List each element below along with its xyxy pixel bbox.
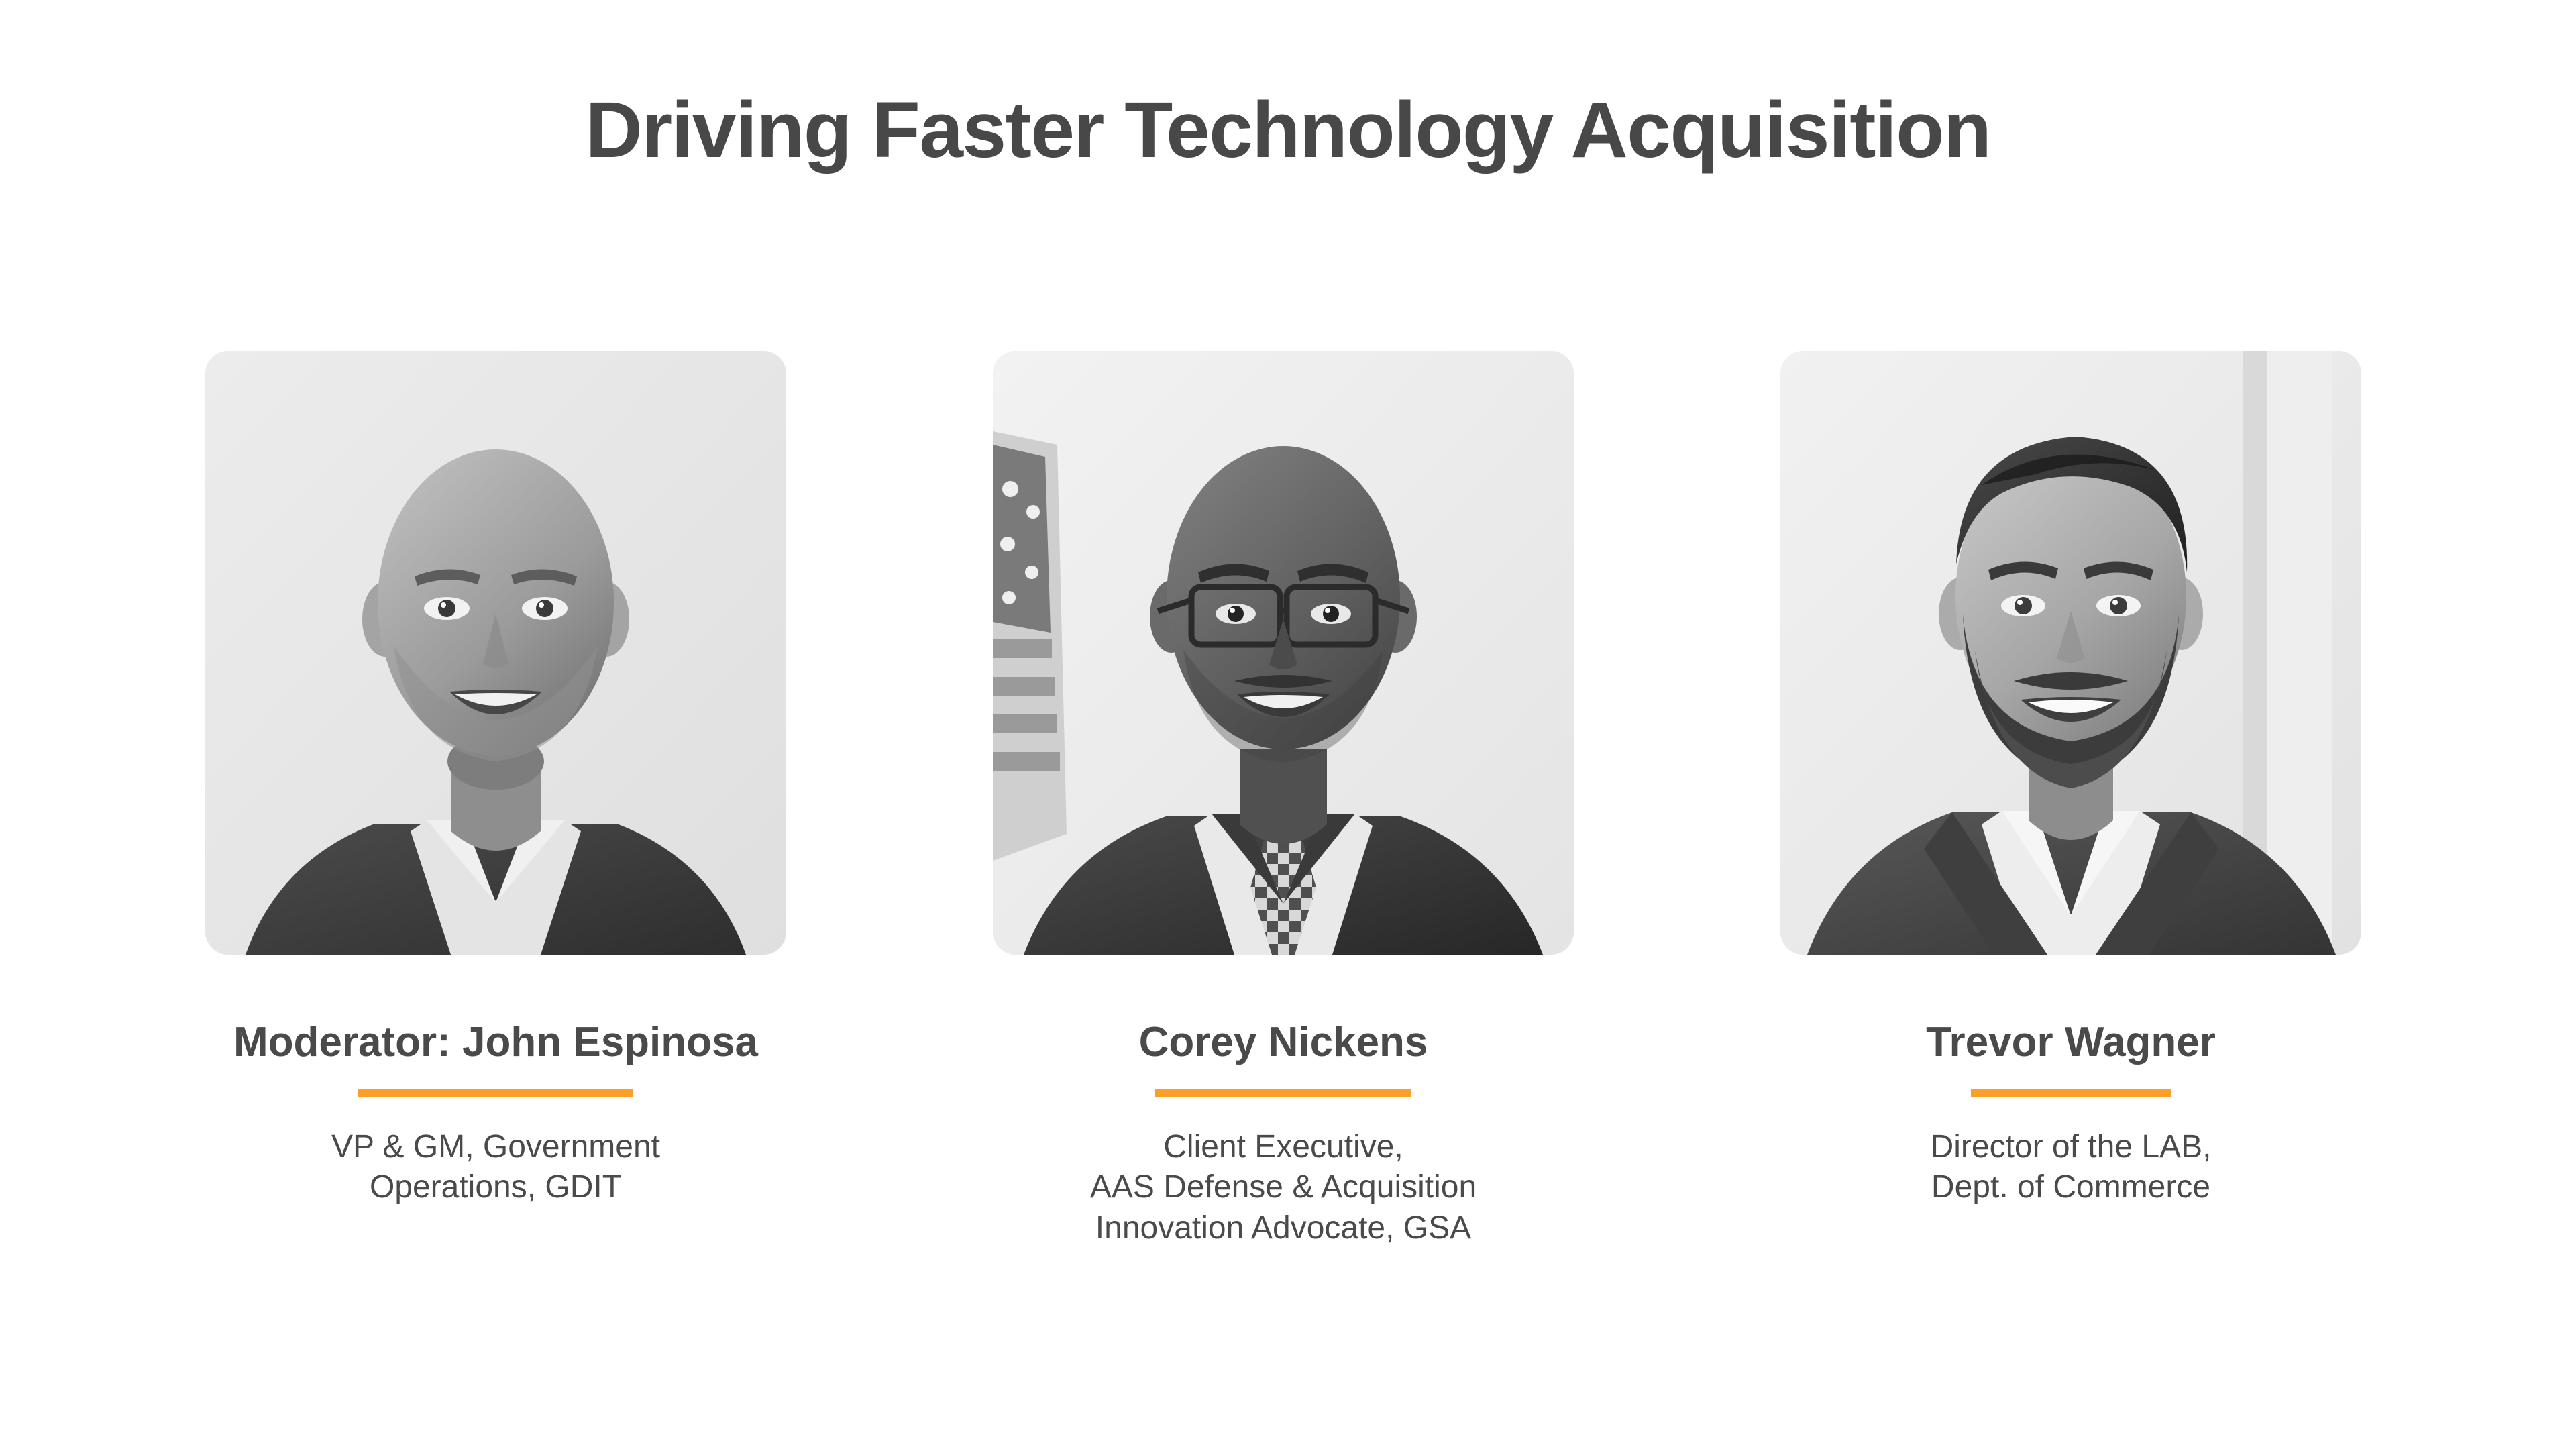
avatar [1780,351,2361,955]
accent-divider [1155,1089,1411,1097]
speaker-role: VP & GM, Government Operations, GDIT [331,1127,660,1208]
speaker-role: Director of the LAB, Dept. of Commerce [1931,1127,2212,1208]
avatar [205,351,786,955]
speaker-name: Moderator: John Espinosa [233,1020,758,1065]
slide-canvas: Driving Faster Technology Acquisition [0,0,2576,1449]
accent-divider [358,1089,633,1097]
speaker-card: Moderator: John Espinosa VP & GM, Govern… [205,351,786,1208]
accent-divider [1971,1089,2171,1097]
speaker-card: Corey Nickens Client Executive, AAS Defe… [993,351,1574,1248]
avatar [993,351,1574,955]
headshot-photo [993,351,1574,955]
headshot-photo [205,351,786,955]
speaker-name: Corey Nickens [1139,1020,1428,1065]
page-title: Driving Faster Technology Acquisition [0,87,2576,174]
speaker-card: Trevor Wagner Director of the LAB, Dept.… [1780,351,2361,1208]
speaker-list: Moderator: John Espinosa VP & GM, Govern… [205,351,2361,1248]
speaker-role: Client Executive, AAS Defense & Acquisit… [1090,1127,1477,1248]
headshot-photo [1780,351,2361,955]
speaker-name: Trevor Wagner [1926,1020,2216,1065]
